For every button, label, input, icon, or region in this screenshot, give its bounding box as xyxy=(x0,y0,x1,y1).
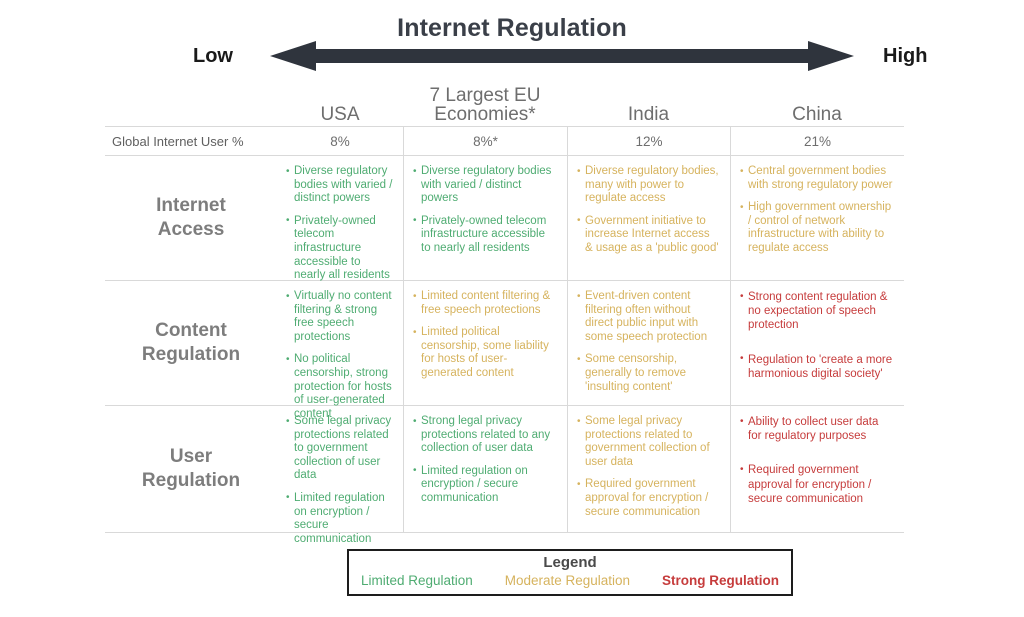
user-pct-value: 21% xyxy=(804,134,831,149)
bullet-item: Required government approval for encrypt… xyxy=(740,463,894,506)
matrix-cell-internet-access-usa: Diverse regulatory bodies with varied / … xyxy=(277,156,403,280)
axis-title: Internet Regulation xyxy=(0,14,1024,43)
column-header-china: China xyxy=(730,86,904,126)
bullet-list: Strong content regulation & no expectati… xyxy=(740,290,894,381)
legend-box: Legend Limited Regulation Moderate Regul… xyxy=(347,549,793,596)
legend-item-limited-regulation: Limited Regulation xyxy=(361,573,473,588)
user-pct-value: 8% xyxy=(330,134,350,149)
bullet-list: Diverse regulatory bodies with varied / … xyxy=(413,165,557,256)
axis-low-label: Low xyxy=(193,45,233,68)
bullet-item: Central government bodies with strong re… xyxy=(740,165,894,192)
global-internet-user-pct-row: Global Internet User % 8% 8%* 12% 21% xyxy=(105,126,904,156)
user-pct-cell-india: 12% xyxy=(567,127,730,155)
matrix-cell-user-regulation-india: Some legal privacy protections related t… xyxy=(567,406,730,532)
column-header-india: India xyxy=(567,86,730,126)
matrix-cell-user-regulation-china: Ability to collect user data for regulat… xyxy=(730,406,904,532)
bullet-item: Privately-owned telecom infrastructure a… xyxy=(286,215,393,283)
matrix-corner-cell xyxy=(105,86,277,126)
bullet-list: Diverse regulatory bodies with varied / … xyxy=(286,165,393,283)
bullet-item: Regulation to 'create a more harmonious … xyxy=(740,353,894,381)
bullet-list: Strong legal privacy protections related… xyxy=(413,415,557,506)
bullet-item: Some legal privacy protections related t… xyxy=(577,415,720,469)
bullet-item: Limited regulation on encryption / secur… xyxy=(413,465,557,506)
row-title-cell: Content Regulation xyxy=(105,281,277,405)
bullet-item: Limited content filtering & free speech … xyxy=(413,290,557,317)
bullet-list: Ability to collect user data for regulat… xyxy=(740,415,894,506)
bullet-item: Diverse regulatory bodies with varied / … xyxy=(286,165,393,206)
legend-items: Limited Regulation Moderate Regulation S… xyxy=(349,572,791,588)
bullet-item: Government initiative to increase Intern… xyxy=(577,215,720,256)
double-headed-arrow-icon xyxy=(270,41,854,71)
bullet-item: Ability to collect user data for regulat… xyxy=(740,415,894,443)
matrix-cell-user-regulation-usa: Some legal privacy protections related t… xyxy=(277,406,403,532)
matrix-cell-user-regulation-eu: Strong legal privacy protections related… xyxy=(403,406,567,532)
row-title: User Regulation xyxy=(142,445,240,493)
bullet-list: Some legal privacy protections related t… xyxy=(577,415,720,519)
legend-item-strong-regulation: Strong Regulation xyxy=(662,573,779,588)
column-header-eu: 7 Largest EU Economies* xyxy=(403,86,567,126)
legend-item-moderate-regulation: Moderate Regulation xyxy=(505,573,630,588)
user-pct-row-label: Global Internet User % xyxy=(112,134,244,149)
column-header-label: USA xyxy=(320,105,359,124)
row-title-cell: Internet Access xyxy=(105,156,277,280)
column-header-label: India xyxy=(628,105,669,124)
bullet-list: Event-driven content filtering often wit… xyxy=(577,290,720,394)
matrix-header-row: USA 7 Largest EU Economies* India China xyxy=(105,86,904,126)
bullet-list: Virtually no content filtering & strong … xyxy=(286,290,393,421)
matrix-cell-content-regulation-usa: Virtually no content filtering & strong … xyxy=(277,281,403,405)
bullet-item: Event-driven content filtering often wit… xyxy=(577,290,720,344)
bullet-item: Strong content regulation & no expectati… xyxy=(740,290,894,333)
regulation-axis-band: Internet Regulation Low High xyxy=(0,0,1024,86)
regulation-matrix: USA 7 Largest EU Economies* India China … xyxy=(105,86,904,533)
row-title: Internet Access xyxy=(156,194,226,242)
axis-high-label: High xyxy=(883,45,927,68)
matrix-row-user-regulation: User Regulation Some legal privacy prote… xyxy=(105,406,904,533)
user-pct-value: 12% xyxy=(635,134,662,149)
user-pct-cell-eu: 8%* xyxy=(403,127,567,155)
row-title-cell: User Regulation xyxy=(105,406,277,532)
user-pct-cell-usa: 8% xyxy=(277,127,403,155)
bullet-item: Limited political censorship, some liabi… xyxy=(413,326,557,380)
user-pct-row-label-cell: Global Internet User % xyxy=(105,127,277,155)
bullet-item: Diverse regulatory bodies with varied / … xyxy=(413,165,557,206)
bullet-item: Some legal privacy protections related t… xyxy=(286,415,393,483)
matrix-cell-content-regulation-india: Event-driven content filtering often wit… xyxy=(567,281,730,405)
row-title: Content Regulation xyxy=(142,319,240,367)
matrix-row-content-regulation: Content Regulation Virtually no content … xyxy=(105,281,904,406)
matrix-cell-internet-access-india: Diverse regulatory bodies, many with pow… xyxy=(567,156,730,280)
user-pct-value: 8%* xyxy=(473,134,498,149)
bullet-list: Diverse regulatory bodies, many with pow… xyxy=(577,165,720,256)
bullet-item: Some censorship, generally to remove 'in… xyxy=(577,353,720,394)
matrix-cell-internet-access-china: Central government bodies with strong re… xyxy=(730,156,904,280)
column-header-label: China xyxy=(792,105,842,124)
column-header-label: 7 Largest EU Economies* xyxy=(430,86,541,124)
bullet-list: Limited content filtering & free speech … xyxy=(413,290,557,381)
matrix-cell-content-regulation-eu: Limited content filtering & free speech … xyxy=(403,281,567,405)
user-pct-cell-china: 21% xyxy=(730,127,904,155)
bullet-list: Central government bodies with strong re… xyxy=(740,165,894,256)
bullet-item: High government ownership / control of n… xyxy=(740,201,894,255)
matrix-cell-internet-access-eu: Diverse regulatory bodies with varied / … xyxy=(403,156,567,280)
bullet-item: No political censorship, strong protecti… xyxy=(286,353,393,421)
matrix-row-internet-access: Internet Access Diverse regulatory bodie… xyxy=(105,156,904,281)
bullet-list: Some legal privacy protections related t… xyxy=(286,415,393,546)
legend-title: Legend xyxy=(349,554,791,572)
bullet-item: Strong legal privacy protections related… xyxy=(413,415,557,456)
column-header-usa: USA xyxy=(277,86,403,126)
bullet-item: Limited regulation on encryption / secur… xyxy=(286,492,393,546)
bullet-item: Diverse regulatory bodies, many with pow… xyxy=(577,165,720,206)
bullet-item: Required government approval for encrypt… xyxy=(577,478,720,519)
bullet-item: Virtually no content filtering & strong … xyxy=(286,290,393,344)
matrix-cell-content-regulation-china: Strong content regulation & no expectati… xyxy=(730,281,904,405)
bullet-item: Privately-owned telecom infrastructure a… xyxy=(413,215,557,256)
